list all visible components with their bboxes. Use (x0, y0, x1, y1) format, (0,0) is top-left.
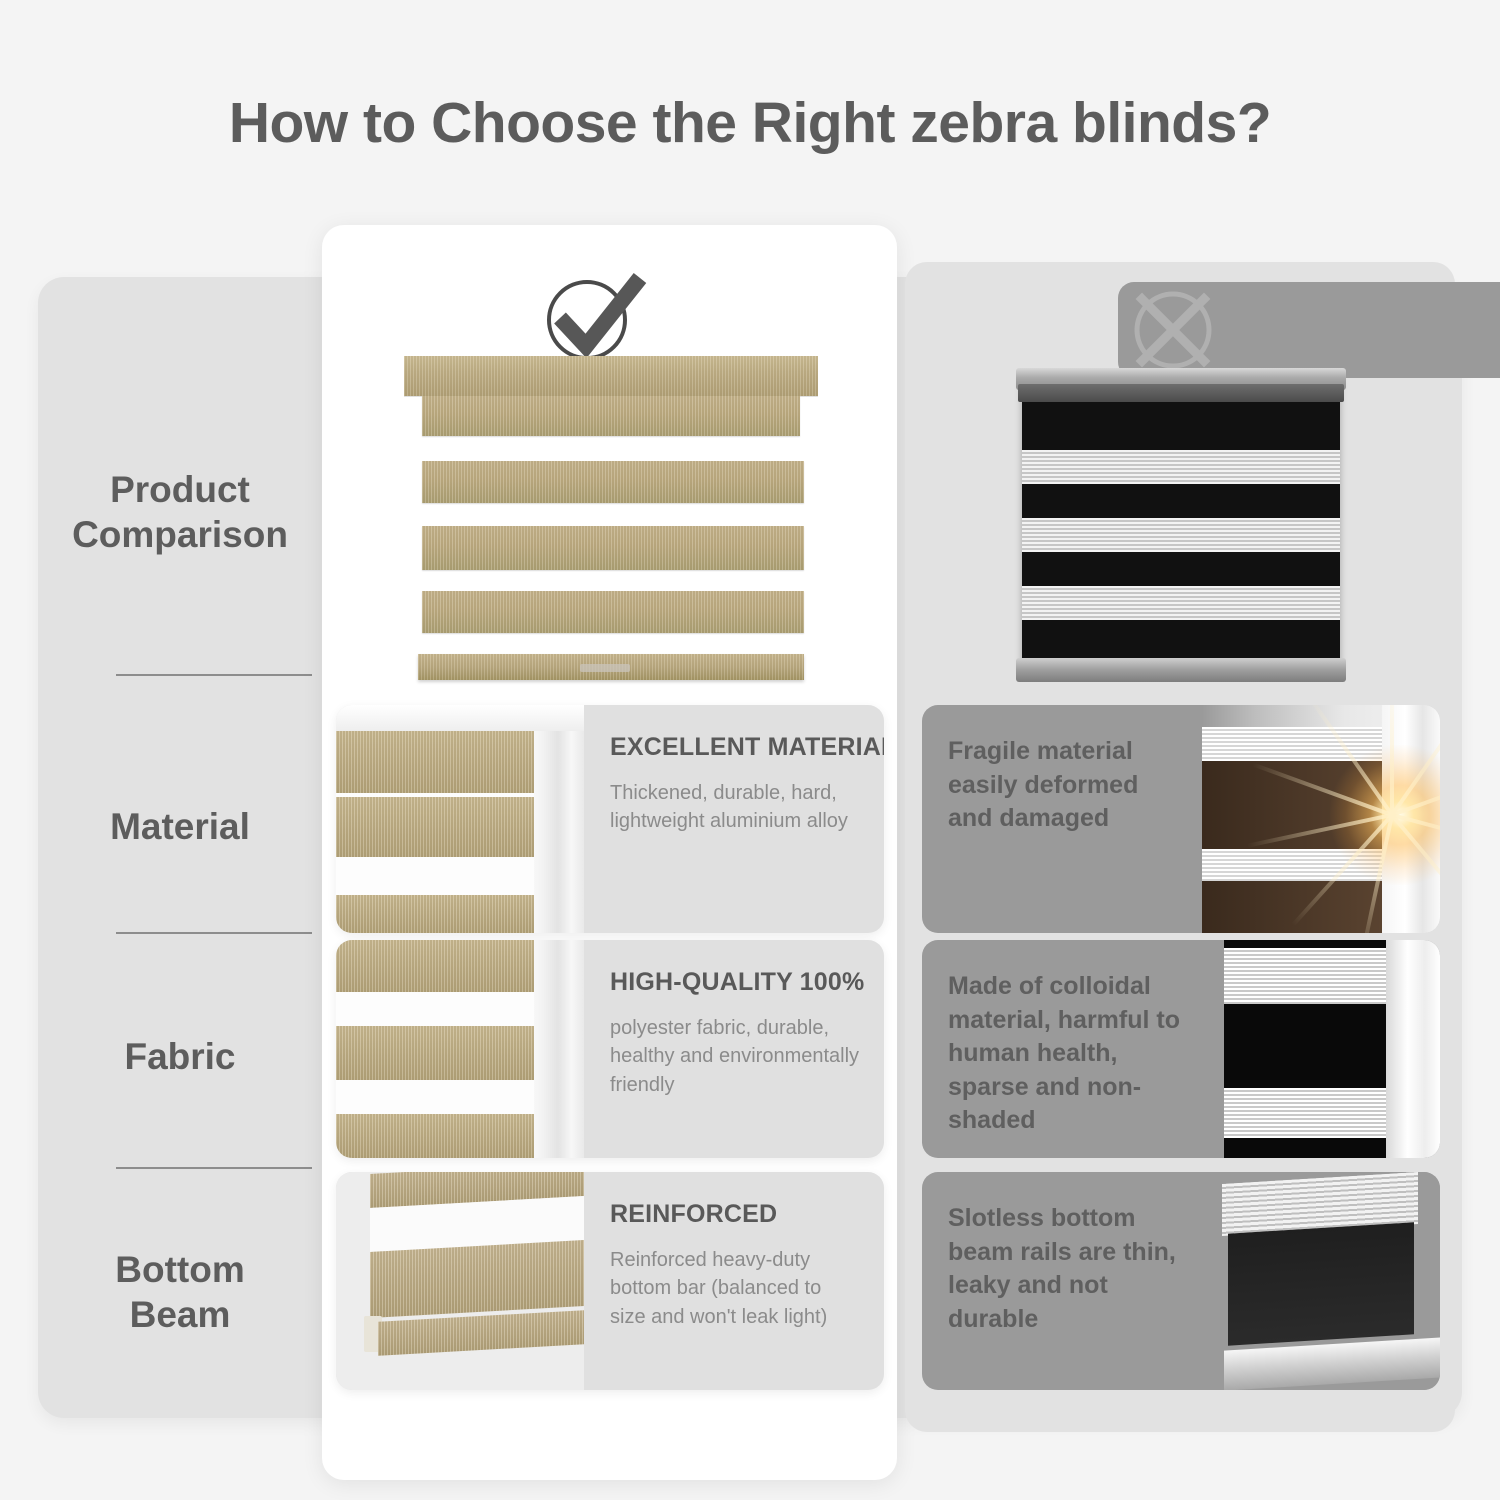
issue-text-fabric: Made of colloidal material, harmful to h… (922, 940, 1202, 1158)
dark-band-2 (1202, 881, 1382, 933)
stripe-black-1 (1224, 1004, 1386, 1088)
issue-tile-bottom-beam: Slotless bottom beam rails are thin, lea… (922, 1172, 1440, 1390)
sheer-band-1 (336, 992, 534, 1026)
stripe-black-top (1224, 940, 1386, 948)
black-sheer-band-2 (1022, 518, 1340, 552)
wood-slat-4 (422, 591, 804, 633)
wood-slat-1 (422, 396, 800, 436)
feature-tile-material: EXCELLENT MATERIAL Thickened, durable, h… (336, 705, 884, 933)
issue-tile-fabric: Made of colloidal material, harmful to h… (922, 940, 1440, 1158)
beige-band-3 (336, 1114, 534, 1158)
wood-slat-2 (422, 461, 804, 503)
wood-headrail (404, 356, 818, 396)
stripe-black-2 (1224, 1138, 1386, 1158)
issue-text-bottom-beam: Slotless bottom beam rails are thin, lea… (922, 1172, 1202, 1390)
beige-band-1 (336, 940, 534, 992)
bar-bottom-rail (378, 1310, 584, 1356)
issue-photo-fabric (1202, 940, 1440, 1158)
comparison-infographic: How to Choose the Right zebra blinds? Pr… (0, 0, 1500, 1500)
feature-heading-bottom-beam: REINFORCED (610, 1200, 858, 1229)
beige-band-2 (336, 797, 534, 857)
criteria-divider-3 (116, 1167, 312, 1169)
check-circle-icon (540, 268, 650, 364)
photo-reinforced-bottom-bar (336, 1172, 584, 1390)
black-bottom-bar (1016, 658, 1346, 682)
beige-band-2 (336, 1026, 534, 1080)
stripe-white-2 (1224, 1088, 1386, 1138)
criteria-label-product-comparison: Product Comparison (54, 467, 306, 557)
criteria-row-bottom-beam: Bottom Beam (38, 1207, 322, 1377)
feature-heading-material: EXCELLENT MATERIAL (610, 733, 884, 762)
sheer-band-2 (336, 857, 534, 895)
criteria-label-material: Material (92, 804, 268, 849)
window-frame-top (336, 705, 584, 731)
criteria-label-fabric: Fabric (106, 1034, 253, 1079)
criteria-row-material: Material (38, 767, 322, 887)
page-title: How to Choose the Right zebra blinds? (0, 90, 1500, 156)
issue-tile-material: Fragile material easily deformed and dam… (922, 705, 1440, 933)
photo-slotless-bottom-rail (1202, 1172, 1440, 1390)
feature-body-bottom-beam: Reinforced heavy-duty bottom bar (balanc… (610, 1246, 858, 1331)
criteria-label-line2: Comparison (72, 514, 288, 555)
slot-dark-band (1228, 1222, 1414, 1345)
criteria-label-line2: Beam (130, 1294, 231, 1335)
black-sheer-band-1 (1022, 450, 1340, 484)
black-roller-tube (1018, 384, 1344, 402)
criteria-row-product-comparison: Product Comparison (38, 427, 322, 597)
issue-photo-bottom-beam (1202, 1172, 1440, 1390)
x-circle-icon (1118, 282, 1500, 378)
sun-ray (1390, 705, 1394, 817)
window-frame (1386, 940, 1440, 1158)
issue-text-material: Fragile material easily deformed and dam… (922, 705, 1202, 933)
beige-band-3 (336, 895, 534, 933)
feature-tile-fabric: HIGH-QUALITY 100% polyester fabric, dura… (336, 940, 884, 1158)
photo-sun-leak (1202, 705, 1440, 933)
feature-photo-fabric (336, 940, 584, 1158)
criteria-divider-2 (116, 932, 312, 934)
criteria-row-fabric: Fabric (38, 997, 322, 1117)
issue-photo-material (1202, 705, 1440, 933)
feature-tile-bottom-beam: REINFORCED Reinforced heavy-duty bottom … (336, 1172, 884, 1390)
hero-image-black-zebra-blind (1022, 378, 1340, 670)
criteria-divider-1 (116, 674, 312, 676)
feature-text-material: EXCELLENT MATERIAL Thickened, durable, h… (584, 705, 884, 933)
feature-text-fabric: HIGH-QUALITY 100% polyester fabric, dura… (584, 940, 884, 1158)
feature-body-material: Thickened, durable, hard, lightweight al… (610, 779, 884, 836)
stripe-white-1 (1224, 948, 1386, 1004)
beige-band-1 (336, 731, 534, 793)
feature-body-fabric: polyester fabric, durable, healthy and e… (610, 1014, 864, 1099)
criteria-label-line1: Product (110, 469, 250, 510)
bar-slat-mid (370, 1240, 584, 1318)
criteria-rail: Product Comparison Material Fabric Botto… (38, 277, 322, 1418)
feature-photo-bottom-beam (336, 1172, 584, 1390)
photo-sparse-striped-fabric (1202, 940, 1440, 1158)
wood-bottom-grip (580, 664, 630, 672)
black-sheer-band-3 (1022, 586, 1340, 620)
criteria-label-line1: Bottom (115, 1249, 244, 1290)
feature-text-bottom-beam: REINFORCED Reinforced heavy-duty bottom … (584, 1172, 884, 1390)
photo-beige-fabric-frame (336, 940, 584, 1158)
criteria-label-bottom-beam: Bottom Beam (97, 1247, 262, 1337)
photo-beige-blind-frame (336, 705, 584, 933)
feature-heading-fabric: HIGH-QUALITY 100% (610, 968, 864, 997)
hero-image-wood-zebra-blind (404, 356, 818, 698)
feature-photo-material (336, 705, 584, 933)
wood-slat-3 (422, 526, 804, 570)
sheer-band-2 (336, 1080, 534, 1114)
